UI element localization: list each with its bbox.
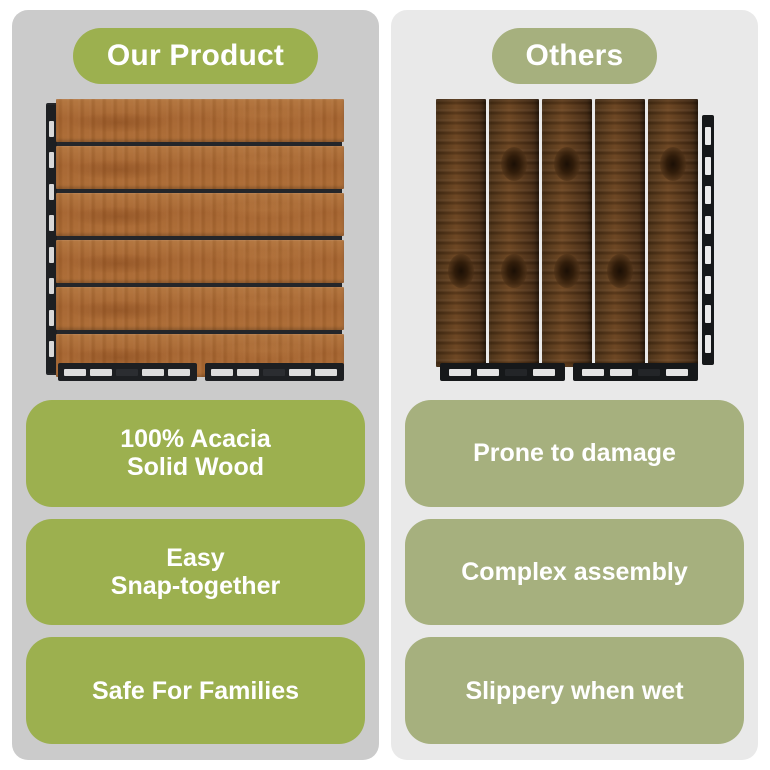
- snap-base-bottom-grid: [58, 363, 344, 381]
- feature-line-1: Slippery when wet: [465, 677, 683, 705]
- acacia-wood-deck-tile-image: [46, 99, 346, 381]
- snap-base-bottom-grid: [440, 363, 698, 381]
- our-product-header-badge: Our Product: [73, 28, 318, 84]
- snap-slot: [64, 369, 86, 376]
- product-comparison-infographic: Our Product: [0, 0, 770, 770]
- dark-stained-wood-deck-tile-image: [436, 99, 714, 381]
- feature-line-1: Prone to damage: [473, 439, 676, 467]
- wood-knot: [501, 254, 527, 288]
- snap-slot: [315, 369, 337, 376]
- snap-slot: [49, 310, 54, 326]
- feature-line-1: Easy: [111, 544, 280, 572]
- wood-plank-stack: [436, 99, 698, 367]
- snap-slot: [449, 369, 471, 376]
- wood-slat: [56, 146, 344, 189]
- snap-slot: [49, 215, 54, 231]
- our-product-feature-list: 100% Acacia Solid Wood Easy Snap-togethe…: [26, 400, 365, 744]
- feature-pill-acacia-solid-wood: 100% Acacia Solid Wood: [26, 400, 365, 507]
- snap-slot: [705, 335, 711, 353]
- snap-slot: [49, 121, 54, 137]
- feature-pill-prone-to-damage: Prone to damage: [405, 400, 744, 507]
- wood-knot: [554, 254, 580, 288]
- snap-slot: [49, 152, 54, 168]
- snap-slot: [610, 369, 632, 376]
- others-header-badge: Others: [492, 28, 658, 84]
- others-product-image-stage: [405, 90, 744, 390]
- snap-slot: [477, 369, 499, 376]
- feature-pill-slippery-when-wet: Slippery when wet: [405, 637, 744, 744]
- snap-slot: [289, 369, 311, 376]
- feature-line-2: Snap-together: [111, 572, 280, 600]
- snap-slot: [263, 369, 285, 376]
- snap-tab-column-right: [702, 115, 714, 365]
- wood-plank: [489, 99, 539, 367]
- snap-grid-half: [573, 363, 698, 381]
- feature-pill-safe-for-families: Safe For Families: [26, 637, 365, 744]
- panel-others: Others: [391, 10, 758, 760]
- snap-grid-half: [205, 363, 344, 381]
- snap-slot: [49, 278, 54, 294]
- wood-slat: [56, 193, 344, 236]
- wood-knot: [554, 147, 580, 181]
- snap-slot: [705, 157, 711, 175]
- snap-slot: [705, 276, 711, 294]
- snap-slot: [505, 369, 527, 376]
- feature-pill-complex-assembly: Complex assembly: [405, 519, 744, 626]
- wood-plank: [542, 99, 592, 367]
- feature-line-1: 100% Acacia: [120, 425, 271, 453]
- snap-grid-half: [58, 363, 197, 381]
- snap-slot: [168, 369, 190, 376]
- snap-grid-half: [440, 363, 565, 381]
- wood-slat: [56, 99, 344, 142]
- wood-plank: [595, 99, 645, 367]
- panel-our-product: Our Product: [12, 10, 379, 760]
- snap-slot: [705, 127, 711, 145]
- snap-slot: [705, 246, 711, 264]
- snap-slot: [582, 369, 604, 376]
- others-feature-list: Prone to damage Complex assembly Slipper…: [405, 400, 744, 744]
- snap-slot: [705, 305, 711, 323]
- snap-slot: [49, 184, 54, 200]
- wood-knot: [607, 254, 633, 288]
- snap-slot: [666, 369, 688, 376]
- wood-slat-stack: [56, 99, 344, 377]
- snap-slot: [211, 369, 233, 376]
- wood-slat: [56, 240, 344, 283]
- snap-slot: [116, 369, 138, 376]
- snap-slot: [90, 369, 112, 376]
- snap-slot: [705, 186, 711, 204]
- wood-plank: [436, 99, 486, 367]
- feature-line-1: Safe For Families: [92, 677, 299, 705]
- feature-line-1: Complex assembly: [461, 558, 688, 586]
- snap-slot: [49, 247, 54, 263]
- our-product-image-stage: [26, 90, 365, 390]
- feature-line-2: Solid Wood: [120, 453, 271, 481]
- snap-slot: [638, 369, 660, 376]
- feature-pill-easy-snap-together: Easy Snap-together: [26, 519, 365, 626]
- wood-knot: [448, 254, 474, 288]
- wood-knot: [660, 147, 686, 181]
- snap-slot: [533, 369, 555, 376]
- wood-plank: [648, 99, 698, 367]
- snap-slot: [142, 369, 164, 376]
- snap-slot: [49, 341, 54, 357]
- wood-knot: [501, 147, 527, 181]
- snap-slot: [705, 216, 711, 234]
- snap-slot: [237, 369, 259, 376]
- wood-slat: [56, 287, 344, 330]
